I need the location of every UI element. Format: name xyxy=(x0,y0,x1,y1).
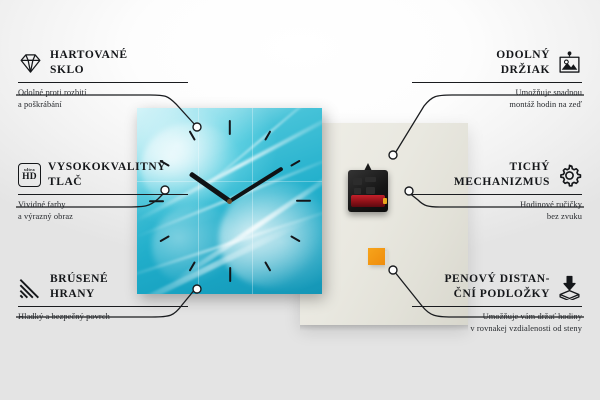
mechanism-detail xyxy=(365,177,376,182)
feature-title: TICHÝMECHANIZMUS xyxy=(454,160,550,190)
feature-rule xyxy=(412,194,582,195)
clock-tick xyxy=(228,267,230,282)
feature-description: Umožňuje snadnoumontáž hodin na zeď xyxy=(412,87,582,111)
feature-title: ODOLNÝDRŽIAK xyxy=(496,48,550,78)
feature-silent-mechanism: TICHÝMECHANIZMUS Hodinové ručičkybez zvu… xyxy=(412,160,582,223)
mechanism-detail xyxy=(354,188,361,194)
ultra-hd-icon-main: HD xyxy=(22,173,37,183)
clock-mechanism xyxy=(348,170,388,212)
mechanism-detail xyxy=(366,187,375,194)
feature-description: Hodinové ručičkybez zvuku xyxy=(412,199,582,223)
picture-frame-icon xyxy=(557,51,582,76)
foam-spacer-pad xyxy=(368,248,385,265)
product-stage: HARTOVANÉSKLO Odolné proti rozbitía pošk… xyxy=(0,0,600,400)
feature-header: BRÚSENÉHRANY xyxy=(18,272,188,302)
feature-rule xyxy=(18,194,188,195)
gear-icon xyxy=(557,163,582,188)
feature-brushed-edges: BRÚSENÉHRANY Hladký a bezpečný povrch xyxy=(18,272,188,323)
press-pad-icon xyxy=(557,275,582,300)
feature-title: PENOVÝ DISTAN-ČNÍ PODLOŽKY xyxy=(444,272,550,302)
feature-description: Vividné farbya výrazný obraz xyxy=(18,199,188,223)
feature-header: HARTOVANÉSKLO xyxy=(18,48,188,78)
ultra-hd-icon: ultra HD xyxy=(18,163,41,187)
feature-foam-spacers: PENOVÝ DISTAN-ČNÍ PODLOŽKY Umožňuje vám … xyxy=(412,272,582,335)
feature-header: ODOLNÝDRŽIAK xyxy=(412,48,582,78)
feature-title: BRÚSENÉHRANY xyxy=(50,272,108,302)
feature-rule xyxy=(412,82,582,83)
feature-description: Umožňuje vám držať hodinyv rovnakej vzdi… xyxy=(412,311,582,335)
feature-description: Odolné proti rozbitía poškrábání xyxy=(18,87,188,111)
diamond-icon xyxy=(18,51,43,76)
feature-header: PENOVÝ DISTAN-ČNÍ PODLOŽKY xyxy=(412,272,582,302)
feature-tempered-glass: HARTOVANÉSKLO Odolné proti rozbitía pošk… xyxy=(18,48,188,111)
feature-rule xyxy=(412,306,582,307)
feature-rule xyxy=(18,82,188,83)
feature-title: VYSOKOKVALITNÝTLAČ xyxy=(48,160,166,190)
mechanism-detail xyxy=(353,178,362,185)
brushed-edges-icon xyxy=(18,275,43,300)
battery xyxy=(351,195,385,207)
feature-header: ultra HD VYSOKOKVALITNÝTLAČ xyxy=(18,160,188,190)
clock-center-cap xyxy=(227,199,232,204)
feature-hd-print: ultra HD VYSOKOKVALITNÝTLAČ Vividné farb… xyxy=(18,160,188,223)
feature-durable-holder: ODOLNÝDRŽIAK Umožňuje snadnoumontáž hodi… xyxy=(412,48,582,111)
feature-header: TICHÝMECHANIZMUS xyxy=(412,160,582,190)
feature-description: Hladký a bezpečný povrch xyxy=(18,311,188,323)
feature-title: HARTOVANÉSKLO xyxy=(50,48,128,78)
feature-rule xyxy=(18,306,188,307)
